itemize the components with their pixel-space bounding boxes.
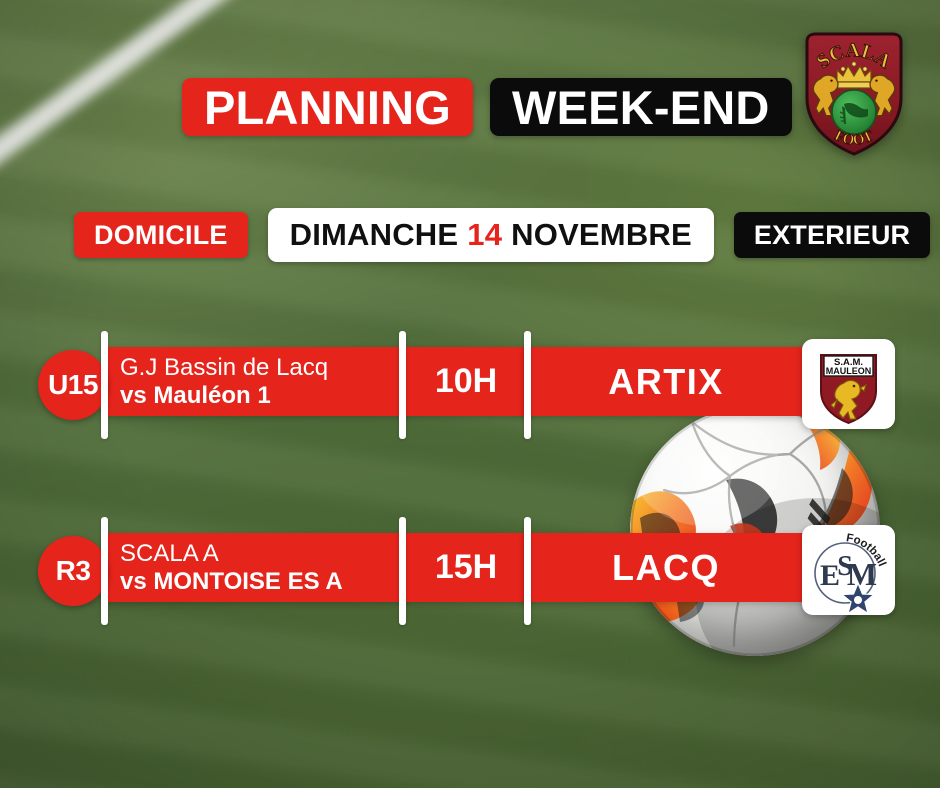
row-divider: [101, 517, 108, 625]
svg-text:MAULEON: MAULEON: [826, 366, 872, 376]
row-divider: [524, 331, 531, 439]
date-weekday: DIMANCHE: [290, 217, 459, 253]
category-badge: U15: [38, 350, 108, 420]
label-domicile: DOMICILE: [74, 212, 248, 258]
subheader-row: DOMICILE DIMANCHE 14 NOVEMBRE EXTERIEUR: [74, 212, 930, 262]
date-month: NOVEMBRE: [511, 217, 692, 253]
match-row: R3 SCALA A vs MONTOISE ES A 15H LACQ Foo…: [0, 517, 940, 625]
sam-mauleon-badge: S.A.M. MAULEON: [802, 339, 895, 429]
fixture-teams: SCALA A vs MONTOISE ES A: [120, 537, 400, 599]
row-divider: [101, 331, 108, 439]
home-team-name: G.J Bassin de Lacq: [120, 355, 400, 382]
label-exterieur: EXTERIEUR: [734, 212, 930, 258]
esm-montoise-badge: Football E S M: [802, 525, 895, 615]
exterieur-text: EXTERIEUR: [754, 220, 910, 251]
title-planning-chip: PLANNING: [182, 78, 473, 136]
date-day: 14: [467, 217, 502, 253]
fixture-teams: G.J Bassin de Lacq vs Mauléon 1: [120, 351, 400, 413]
venue-name: ARTIX: [531, 347, 801, 416]
home-team-name: SCALA A: [120, 541, 400, 568]
venue-name: LACQ: [531, 533, 801, 602]
match-date: DIMANCHE 14 NOVEMBRE: [268, 208, 714, 262]
title-planning-text: PLANNING: [204, 84, 451, 131]
title-weekend-text: WEEK-END: [512, 84, 769, 131]
row-divider: [399, 331, 406, 439]
scala-foot-crest: SCALA: [798, 26, 910, 158]
category-badge: R3: [38, 536, 108, 606]
planning-poster: adidas PLANNING WEEK-END: [0, 0, 940, 788]
svg-text:M: M: [847, 556, 877, 592]
opponent-name: vs Mauléon 1: [120, 382, 400, 409]
poster-title: PLANNING WEEK-END: [182, 78, 792, 136]
title-weekend-chip: WEEK-END: [490, 78, 791, 136]
category-label: U15: [48, 369, 98, 401]
match-row: U15 G.J Bassin de Lacq vs Mauléon 1 10H …: [0, 331, 940, 439]
kickoff-time: 15H: [402, 533, 530, 602]
row-divider: [524, 517, 531, 625]
opponent-name: vs MONTOISE ES A: [120, 568, 400, 595]
row-divider: [399, 517, 406, 625]
domicile-text: DOMICILE: [94, 220, 228, 251]
kickoff-time: 10H: [402, 347, 530, 416]
category-label: R3: [56, 555, 91, 587]
